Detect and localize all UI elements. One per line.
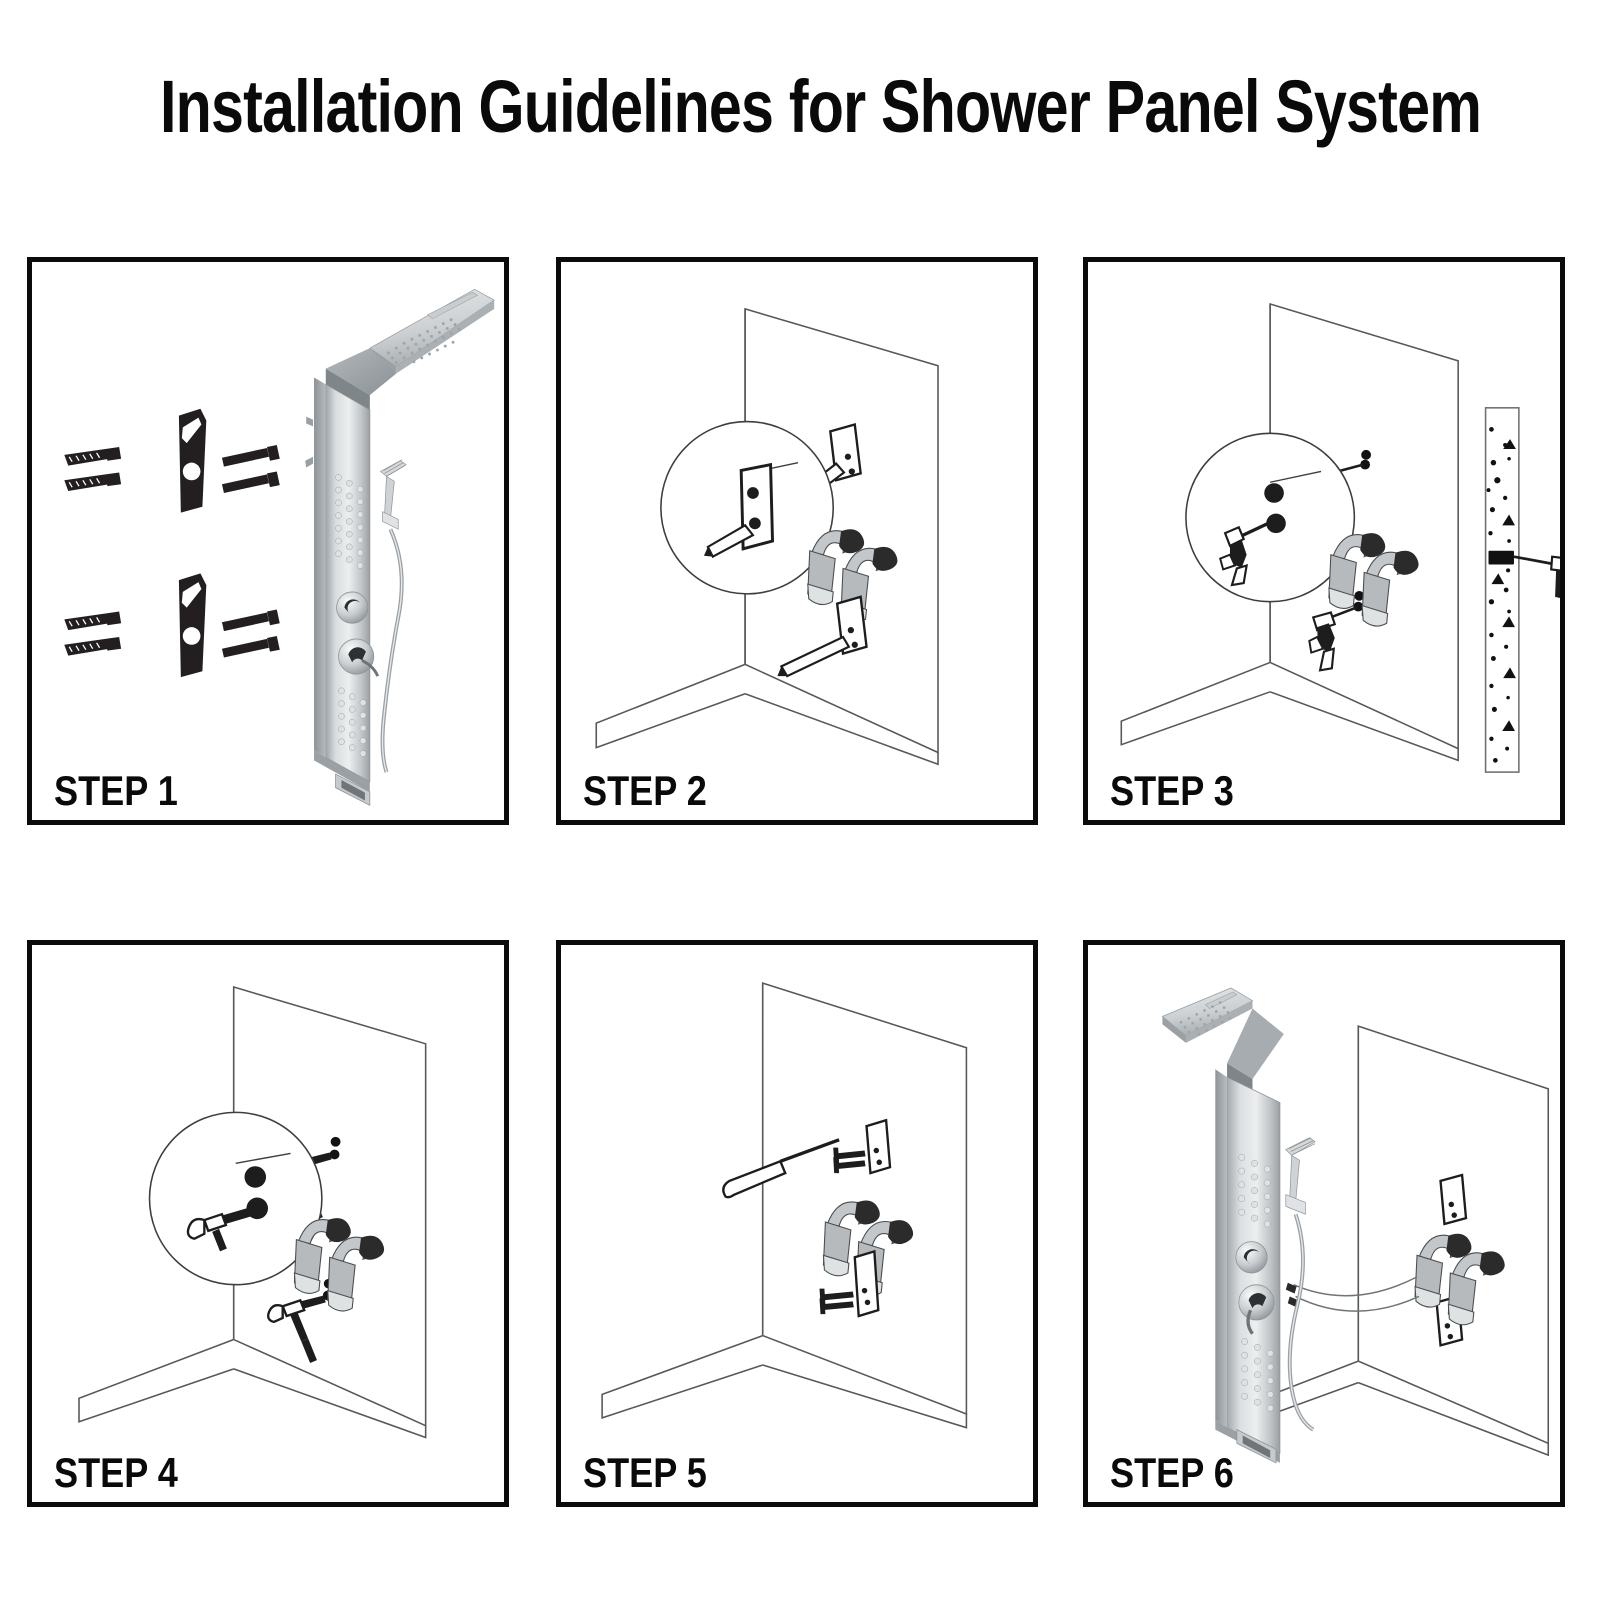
mounting-bracket-plate xyxy=(179,409,206,513)
mounting-bracket-upper xyxy=(1441,1175,1466,1224)
wall-anchor-plug xyxy=(64,472,121,491)
rainfall-shower-head xyxy=(1162,988,1252,1043)
drill-hole-detail xyxy=(1266,514,1286,534)
diverter-knob xyxy=(1236,1242,1267,1273)
step-label-2: STEP 2 xyxy=(583,770,707,812)
side-inlet xyxy=(306,417,313,427)
shower-panel-assembly xyxy=(305,289,494,805)
hardware-set-lower xyxy=(64,573,279,677)
detail-callout-circle xyxy=(1186,433,1354,601)
drill-hole-mark xyxy=(1361,450,1371,460)
rainfall-shower-head xyxy=(370,289,494,373)
anchor-hole-detail xyxy=(244,1166,266,1188)
fixing-screw xyxy=(222,610,280,632)
panel-body-side xyxy=(314,377,326,757)
panel-neck-wedge xyxy=(1227,1009,1284,1080)
step-panel-2: STEP 2 xyxy=(556,257,1038,825)
step-label-5: STEP 5 xyxy=(583,1452,707,1494)
side-inlet xyxy=(305,457,313,468)
wall-cross-section-strip xyxy=(1486,408,1560,772)
fixing-screw xyxy=(222,445,280,467)
wall-anchor-plug xyxy=(64,447,121,466)
corner-wall xyxy=(1272,1026,1548,1455)
handheld-sprayer xyxy=(1286,1138,1315,1214)
handheld-sprayer xyxy=(381,460,406,530)
step-5-illustration xyxy=(561,945,1033,1502)
drill-hole-detail xyxy=(1264,483,1284,503)
diverter-knob xyxy=(337,592,368,623)
step-4-illustration xyxy=(32,945,504,1502)
wall-anchor-plug xyxy=(64,637,121,656)
step-label-1: STEP 1 xyxy=(54,770,178,812)
shower-panel-assembly xyxy=(1162,988,1315,1463)
step-label-3: STEP 3 xyxy=(1110,770,1234,812)
step-panel-6: STEP 6 xyxy=(1083,940,1565,1507)
detail-callout-circle xyxy=(661,422,833,594)
anchor-hole-mark xyxy=(331,1137,341,1147)
wall-anchor-plug xyxy=(64,612,121,631)
step-label-6: STEP 6 xyxy=(1110,1452,1234,1494)
hardware-set-upper xyxy=(64,409,279,513)
panel-body-front xyxy=(326,384,370,782)
mounting-bracket-plate xyxy=(179,573,206,677)
power-drill-section-view xyxy=(1514,557,1560,600)
step-3-illustration xyxy=(1088,262,1560,820)
step-1-illustration xyxy=(32,262,504,820)
step-panel-5: STEP 5 xyxy=(556,940,1038,1507)
mounting-bracket-lower xyxy=(855,1251,879,1316)
steps-grid: STEP 1 xyxy=(0,0,1600,1600)
mounting-bracket-upper xyxy=(867,1120,891,1173)
step-6-illustration xyxy=(1088,945,1560,1502)
step-panel-4: STEP 4 xyxy=(27,940,509,1507)
corner-wall xyxy=(602,983,966,1428)
fixing-screw xyxy=(222,636,280,658)
step-2-illustration xyxy=(561,262,1033,820)
panel-body-side xyxy=(1215,1069,1227,1427)
step-label-4: STEP 4 xyxy=(54,1452,178,1494)
step-panel-3: STEP 3 xyxy=(1083,257,1565,825)
fixing-screw xyxy=(222,471,280,493)
step-panel-1: STEP 1 xyxy=(27,257,509,825)
drill-hole-mark xyxy=(1353,602,1363,612)
